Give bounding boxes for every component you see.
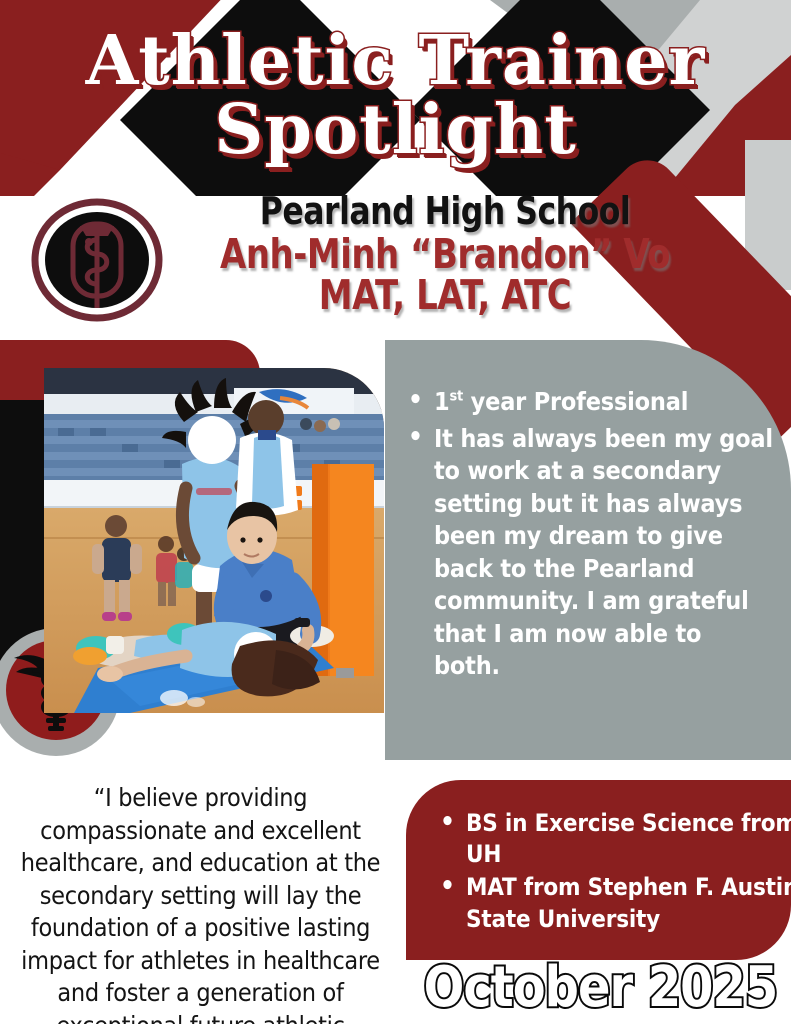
list-item: MAT from Stephen F. Austin State Univers… [466, 872, 791, 934]
list-item: It has always been my goal to work at a … [434, 423, 774, 683]
school-and-name-block: Pearland High School Anh-Minh “Brandon” … [165, 192, 725, 316]
issue-date: October 2025 [423, 960, 777, 1016]
trainer-quote: “I believe providing compassionate and e… [8, 782, 393, 1024]
education-list: BS in Exercise Science from UH MAT from … [432, 808, 791, 937]
highlights-list: 1st year Professional It has always been… [398, 386, 774, 687]
trainer-name: Anh-Minh “Brandon” Vo [187, 234, 702, 275]
school-name: Pearland High School [187, 192, 702, 231]
athletic-trainer-spotlight-poster: Athletic Trainer Spotlight Pearland High… [0, 0, 791, 1024]
athletic-trainer-photo [44, 368, 384, 713]
header-geometric-pattern [0, 0, 791, 196]
list-item: 1st year Professional [434, 386, 774, 419]
pearland-athletic-training-logo [30, 196, 165, 324]
trainer-credentials: MAT, LAT, ATC [187, 275, 702, 316]
list-item: BS in Exercise Science from UH [466, 808, 791, 870]
